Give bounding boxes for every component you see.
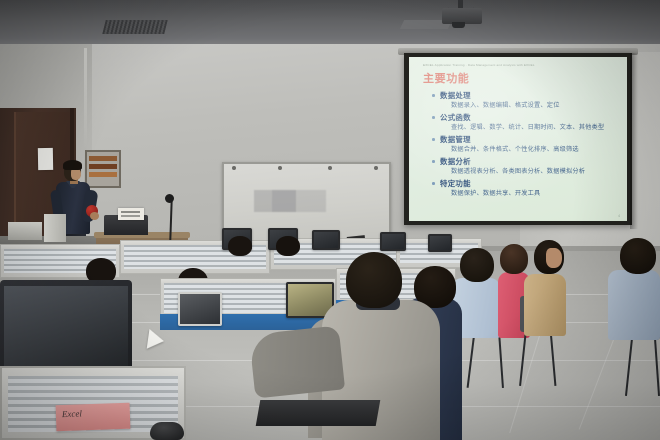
attendee-face [546, 248, 562, 268]
slide-title: 主要功能 [423, 70, 469, 86]
attendee-head [460, 248, 494, 282]
bullet-head: 数据分析 [431, 156, 619, 167]
attendee-head [228, 236, 252, 256]
mouse[interactable] [150, 422, 184, 440]
paper-sheet [147, 329, 166, 351]
attendee-head [620, 238, 656, 274]
bullet-head: 特定功能 [431, 178, 619, 189]
bullet-head: 数据管理 [431, 134, 619, 145]
slide-bullet: 公式函数 查找、逻辑、数学、统计、日期时间、文本、其他类型 [431, 112, 619, 133]
attendee-head [276, 236, 300, 256]
pink-label-card: Excel [56, 403, 131, 432]
bullet-sub: 数据透视表分析、各类图表分析、数据模拟分析 [431, 167, 619, 177]
keyboard[interactable] [256, 400, 381, 426]
bullet-head: 数据处理 [431, 90, 619, 101]
slide-page-number: 4 [618, 214, 620, 218]
monitor [380, 232, 406, 251]
bullet-sub: 数据合并、条件格式、个性化排序、高级筛选 [431, 145, 619, 155]
monitor [428, 234, 452, 252]
projected-slide: EXCEL Application Training · Data Manage… [409, 57, 627, 221]
slide-bullet: 数据管理 数据合并、条件格式、个性化排序、高级筛选 [431, 134, 619, 155]
pink-card-text: Excel [62, 408, 82, 419]
presenter-hand [90, 212, 99, 220]
microphone-icon [165, 194, 174, 203]
slide-bullet: 特定功能 数据保护、数据共享、开发工具 [431, 178, 619, 199]
attendee-head [500, 244, 528, 274]
bullet-head: 公式函数 [431, 112, 619, 123]
classroom-photo: EXCEL Application Training · Data Manage… [0, 0, 660, 440]
screen-shadow [630, 53, 638, 229]
ceiling-vent [102, 20, 167, 34]
foreground-attendee-head [346, 252, 402, 308]
side-desk-equipment [8, 222, 42, 240]
foreground-attendee-arm [249, 325, 345, 398]
projector-lens-icon [452, 22, 465, 28]
side-desk-computer [44, 214, 66, 242]
bullet-sub: 数据录入、数据编辑、格式设置、定位 [431, 101, 619, 111]
monitor [178, 292, 222, 326]
bullet-sub: 查找、逻辑、数学、统计、日期时间、文本、其他类型 [431, 123, 619, 133]
wall-paper-note [38, 148, 53, 170]
slide-bullet-list: 数据处理 数据录入、数据编辑、格式设置、定位 公式函数 查找、逻辑、数学、统计、… [431, 90, 619, 200]
monitor [312, 230, 340, 250]
slide-bullet: 数据处理 数据录入、数据编辑、格式设置、定位 [431, 90, 619, 111]
slide-bullet: 数据分析 数据透视表分析、各类图表分析、数据模拟分析 [431, 156, 619, 177]
attendee-torso [608, 270, 660, 340]
attendee-torso [524, 274, 566, 336]
wall-picture-frame [85, 150, 121, 188]
bullet-sub: 数据保护、数据共享、开发工具 [431, 189, 619, 199]
presenter-hair [63, 160, 82, 170]
lectern-nameplate [118, 208, 144, 220]
slide-header: EXCEL Application Training · Data Manage… [423, 63, 535, 67]
